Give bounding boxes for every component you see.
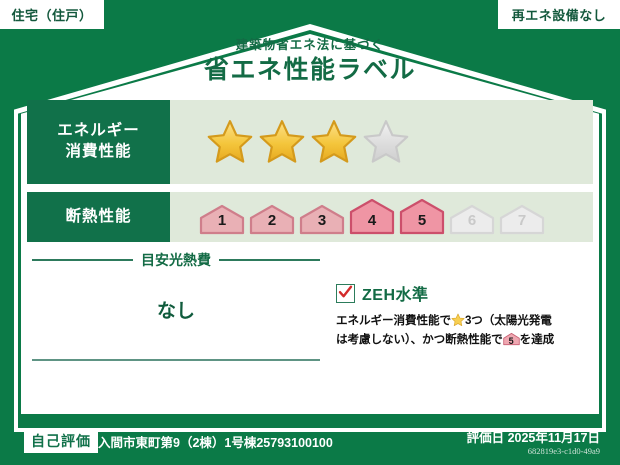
insulation-grade-filled: 5 — [398, 199, 446, 235]
estimated-utility-cost-value: なし — [32, 296, 320, 323]
star-icon-inline — [451, 313, 465, 327]
zeh-desc-part1: エネルギー消費性能で — [336, 314, 451, 327]
insulation-performance-row: 断熱性能 1234567 — [27, 192, 593, 242]
insulation-grade-number: 6 — [448, 212, 496, 229]
energy-label-line2: 消費性能 — [65, 142, 131, 163]
dwelling-type-label: 住宅（住戸） — [11, 5, 92, 24]
cost-bottom-rule — [32, 359, 320, 361]
dwelling-type-tag: 住宅（住戸） — [0, 0, 104, 29]
insulation-performance-label: 断熱性能 — [27, 192, 170, 242]
insulation-grade-filled: 4 — [348, 199, 396, 235]
estimated-utility-cost-title: 目安光熱費 — [141, 250, 211, 270]
star-icon-empty — [362, 118, 410, 166]
star-rating — [170, 100, 593, 184]
zeh-checkbox — [336, 284, 355, 303]
title-subtitle: 建築物省エネ法に基づく — [0, 38, 620, 53]
insulation-grade-number: 5 — [398, 212, 446, 229]
estimated-utility-cost-section: 目安光熱費 なし — [32, 250, 320, 361]
page-title: 建築物省エネ法に基づく 省エネ性能ラベル — [0, 38, 620, 86]
footer-bar: 自己評価 入間市東町第9（2棟）1号棟25793100100 評価日 2025年… — [0, 419, 620, 465]
renewable-equipment-label: 再エネ設備なし — [512, 5, 607, 24]
insulation-grade-empty: 6 — [448, 199, 496, 235]
energy-label-line1: エネルギー — [57, 121, 140, 142]
heading-rule-right — [219, 259, 320, 261]
insulation-label-text: 断熱性能 — [65, 207, 131, 228]
title-main: 省エネ性能ラベル — [0, 55, 620, 86]
zeh-title: ZEH水準 — [362, 281, 429, 305]
insulation-grade-number: 1 — [198, 212, 246, 229]
star-icon-filled — [258, 118, 306, 166]
zeh-desc-star-count: 3つ（太陽光発電 — [465, 314, 552, 327]
energy-performance-label: 住宅（住戸） 再エネ設備なし 建築物省エネ法に基づく 省エネ性能ラベル エネルギ… — [0, 0, 620, 465]
document-id: 682819e3-c1d0-49a9 — [528, 446, 600, 456]
renewable-equipment-tag: 再エネ設備なし — [498, 0, 620, 29]
insulation-grade-number: 2 — [248, 212, 296, 229]
zeh-title-row: ZEH水準 — [336, 281, 594, 305]
insulation-grade-empty: 7 — [498, 199, 546, 235]
property-address: 入間市東町第9（2棟）1号棟25793100100 — [98, 432, 333, 451]
house-icon-inline: 5 — [503, 332, 520, 346]
insulation-grade-scale: 1234567 — [170, 192, 593, 242]
zeh-description: エネルギー消費性能で3つ（太陽光発電 は考慮しない）、かつ断熱性能で5を達成 — [336, 311, 594, 349]
zeh-standard-section: ZEH水準 エネルギー消費性能で3つ（太陽光発電 は考慮しない）、かつ断熱性能で… — [336, 281, 594, 349]
insulation-grade-number: 7 — [498, 212, 546, 229]
evaluation-date: 評価日 2025年11月17日 — [467, 427, 600, 446]
estimated-utility-cost-heading: 目安光熱費 — [32, 250, 320, 270]
star-icon-filled — [310, 118, 358, 166]
heading-rule-left — [32, 259, 133, 261]
insulation-grade-number: 3 — [298, 212, 346, 229]
insulation-grade-filled: 2 — [248, 199, 296, 235]
energy-consumption-label: エネルギー 消費性能 — [27, 100, 170, 184]
check-icon — [338, 285, 353, 300]
insulation-grade-filled: 1 — [198, 199, 246, 235]
insulation-grade-filled: 3 — [298, 199, 346, 235]
self-evaluation-badge: 自己評価 — [24, 429, 98, 453]
insulation-grade-number: 4 — [348, 212, 396, 229]
zeh-desc-part3: を達成 — [520, 333, 554, 346]
section-divider — [326, 256, 328, 374]
energy-consumption-row: エネルギー 消費性能 — [27, 100, 593, 184]
zeh-desc-part2: は考慮しない）、かつ断熱性能で — [336, 333, 503, 346]
star-icon-filled — [206, 118, 254, 166]
house-icon-inline-number: 5 — [503, 334, 520, 349]
